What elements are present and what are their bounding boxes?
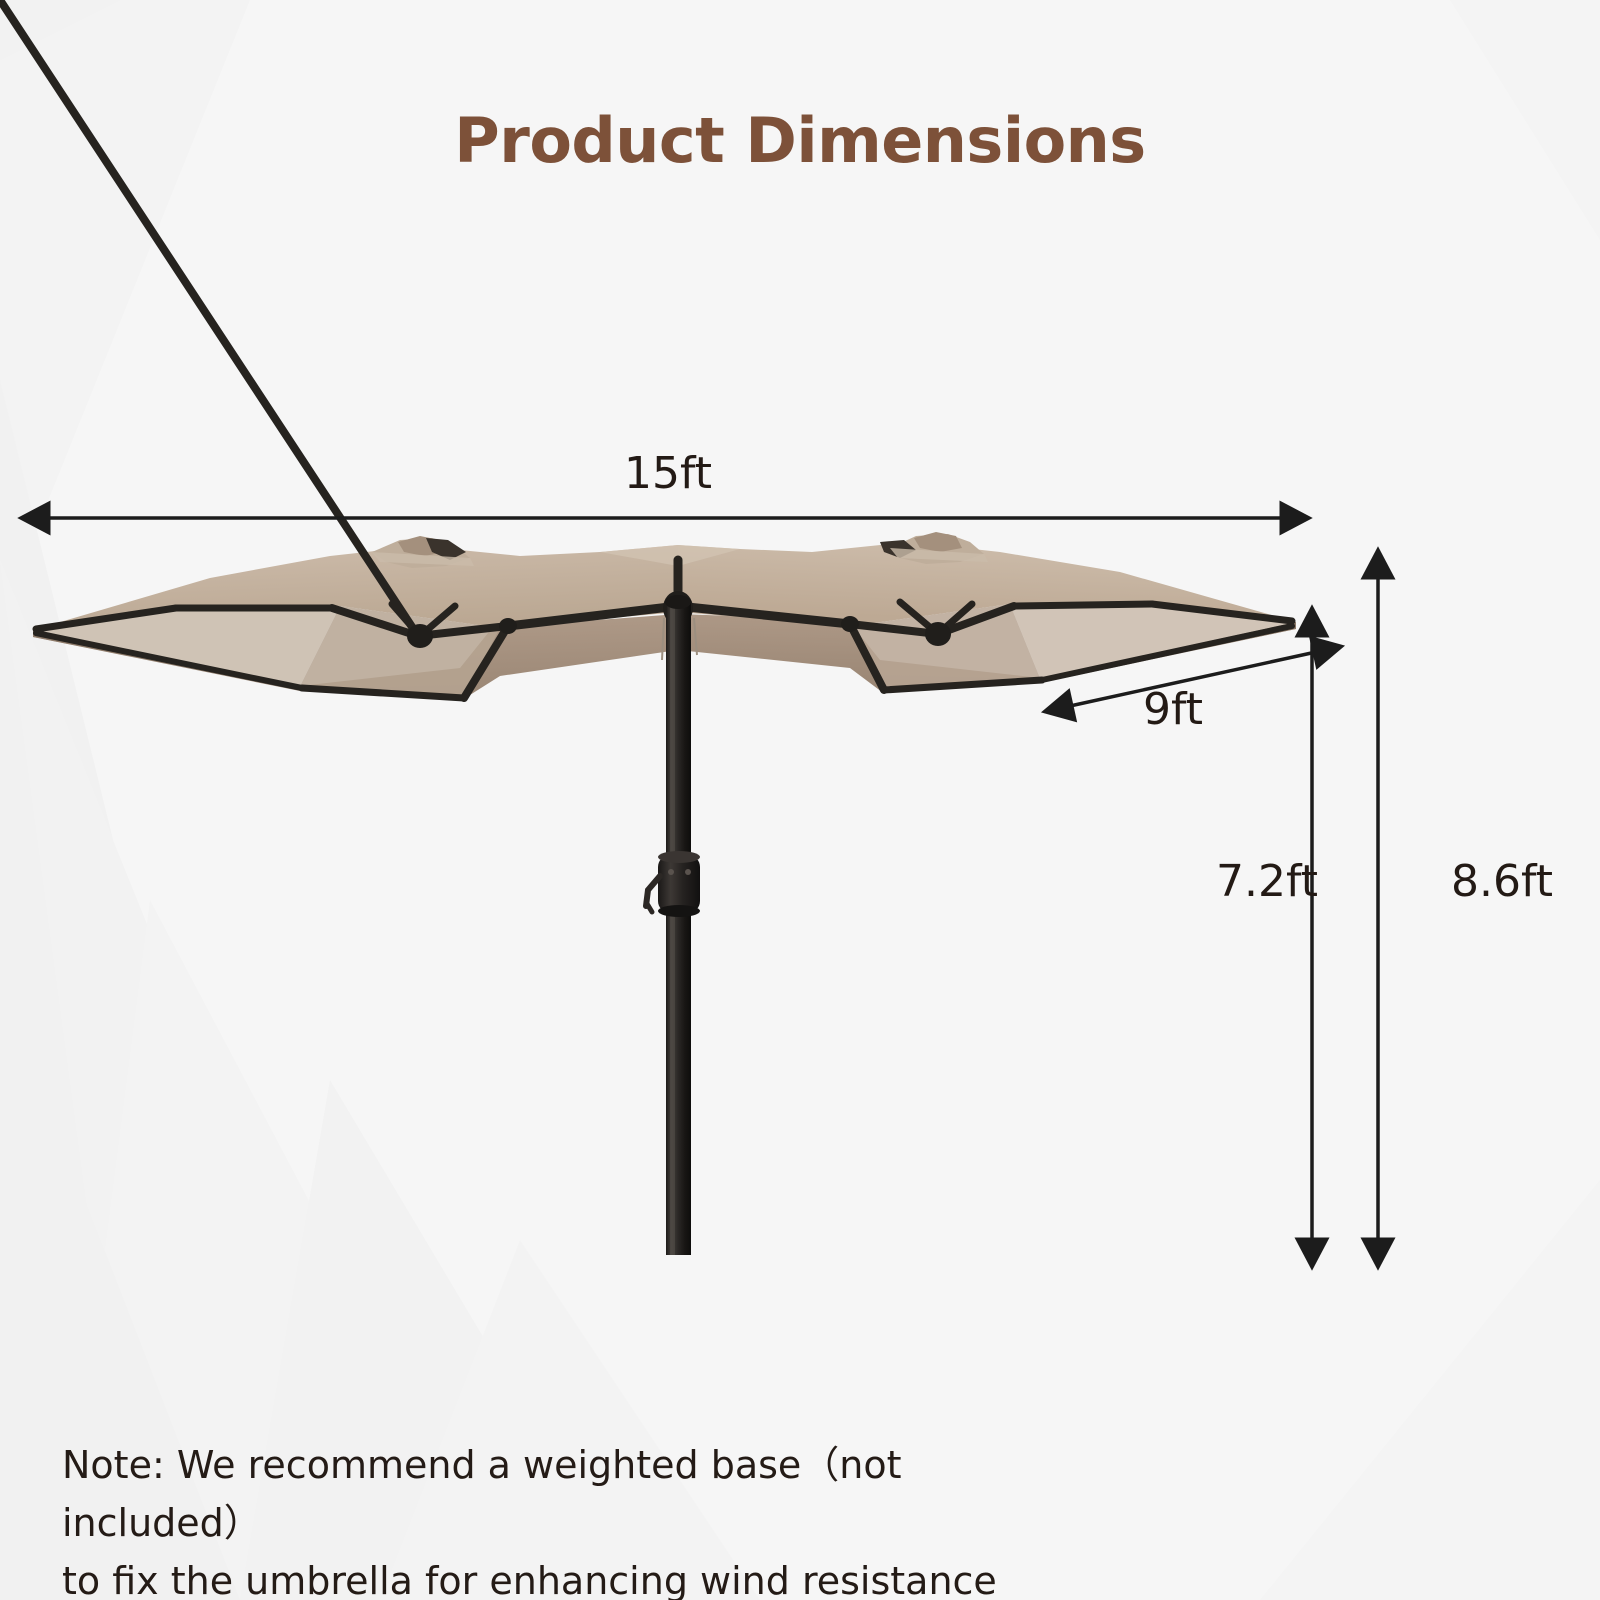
dimension-label-total-height: 8.6ft <box>1451 856 1553 907</box>
dimension-annotations <box>0 0 1600 1600</box>
dimension-label-depth: 9ft <box>1143 684 1203 735</box>
footer-note: Note: We recommend a weighted base（not i… <box>62 1437 1062 1600</box>
dimension-label-width: 15ft <box>624 448 712 499</box>
footer-note-line-2: to fix the umbrella for enhancing wind r… <box>62 1553 1062 1600</box>
footer-note-line-1: Note: We recommend a weighted base（not i… <box>62 1437 1062 1553</box>
dimension-label-canopy-height: 7.2ft <box>1216 856 1318 907</box>
product-dimensions-infographic: Product Dimensions <box>0 0 1600 1600</box>
